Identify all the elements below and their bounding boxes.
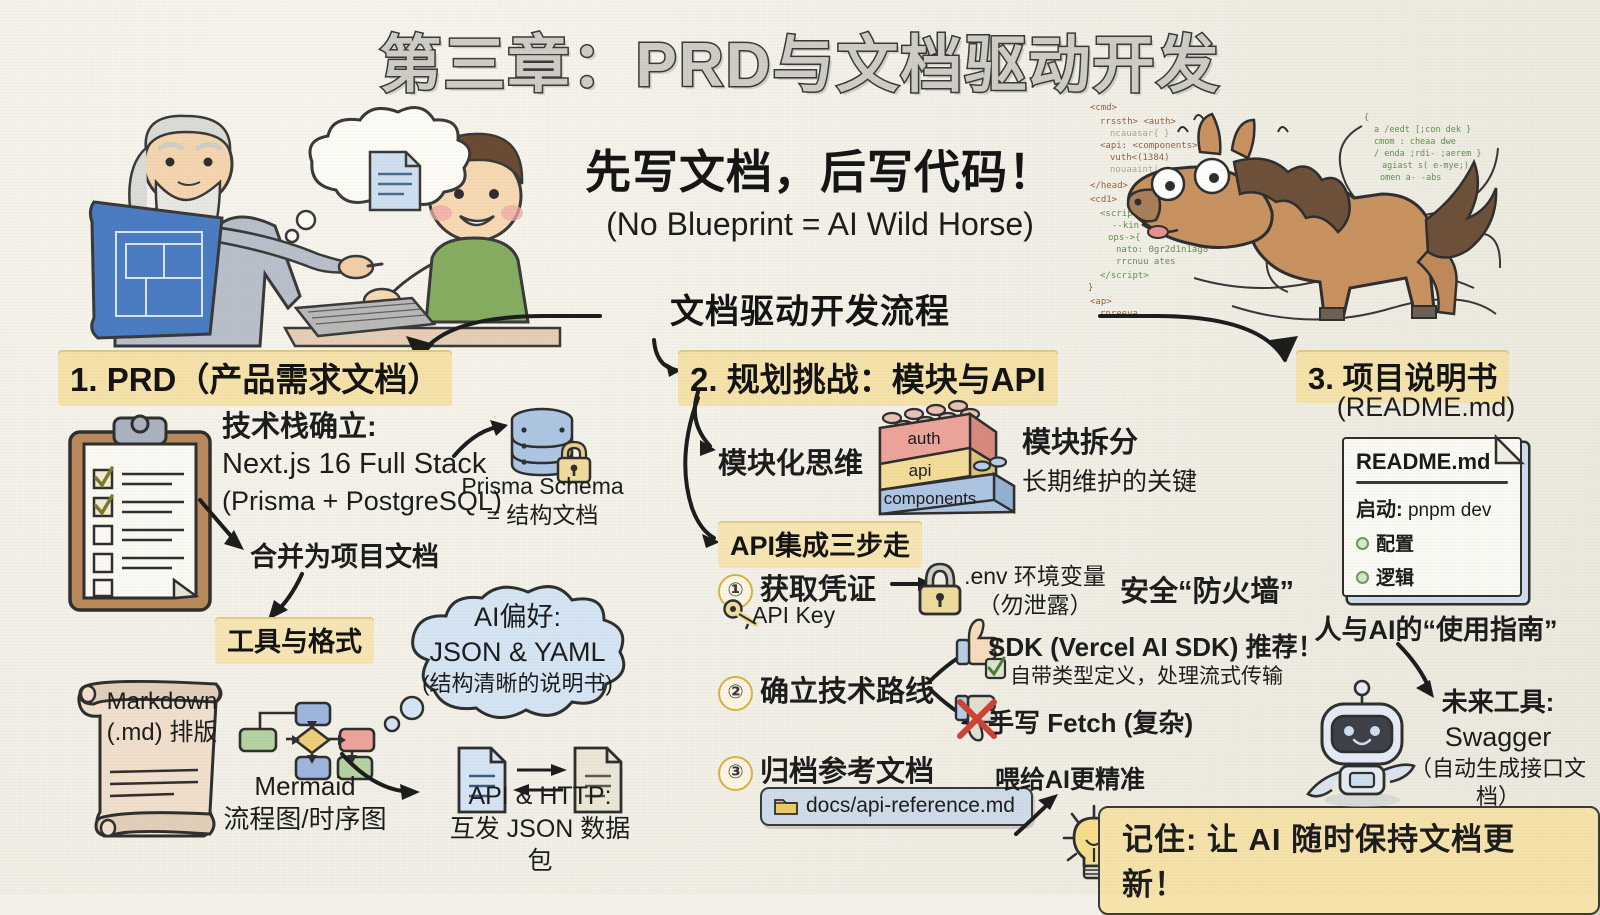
- doc-path-text: docs/api-reference.md: [806, 794, 1015, 817]
- module-split-line2: 长期维护的关键: [1022, 466, 1197, 499]
- headline: 先写文档，后写代码！ (No Blueprint = AI Wild Horse…: [560, 136, 1080, 243]
- readme-start-label: 启动:: [1356, 499, 1403, 521]
- sdk-title: SDK (Vercel AI SDK) 推荐！: [988, 627, 1324, 664]
- svg-text:rrcnuu ates: rrcnuu ates: [1116, 257, 1176, 267]
- svg-text:</script>: </script>: [1100, 271, 1149, 281]
- arrow-to-api-http: [340, 748, 436, 806]
- api-http-line1: API & HTTP:: [445, 780, 635, 813]
- svg-text:a /eedt [;con dek }: a /eedt [;con dek }: [1374, 125, 1471, 135]
- module-split-block: 模块拆分 长期维护的关键: [1022, 425, 1197, 498]
- step-3-label: 归档参考文档: [760, 756, 934, 788]
- headline-sub: (No Blueprint = AI Wild Horse): [560, 206, 1080, 243]
- future-tool-block: 未来工具: Swagger （自动生成接口文档）: [1400, 686, 1596, 812]
- module-split-line1: 模块拆分: [1022, 425, 1197, 463]
- svg-text:nato: 0gr2d1n1ag8: nato: 0gr2d1n1ag8: [1116, 245, 1208, 255]
- readme-list: 配置 逻辑: [1356, 529, 1508, 590]
- svg-text:</head>: </head>: [1090, 181, 1129, 191]
- mermaid-line2: 流程图/时序图: [215, 803, 395, 836]
- svg-text:agiast s( e-mye;): agiast s( e-mye;): [1382, 161, 1469, 171]
- svg-text:cmom : cheaa dwe: cmom : cheaa dwe: [1374, 137, 1456, 147]
- checked-box-icon: [984, 657, 1008, 681]
- api-http-caption: API & HTTP: 互发 JSON 数据包: [445, 780, 635, 878]
- svg-text:vuth<(1384): vuth<(1384): [1110, 153, 1170, 163]
- section-3-subheading: (README.md): [1296, 392, 1556, 423]
- svg-text:/ enda ;rdi- ;aerem }: / enda ;rdi- ;aerem }: [1374, 149, 1481, 159]
- svg-text:<cmd>: <cmd>: [1090, 103, 1118, 113]
- remember-banner: 记住: 让 AI 随时保持文档更新！: [1098, 806, 1600, 915]
- lego-bricks-icon: auth api components: [862, 402, 1020, 520]
- api3-heading: API集成三步走: [718, 521, 922, 568]
- doc-path-chip[interactable]: docs/api-reference.md: [760, 787, 1033, 826]
- ai-pref-line1: AI偏好:: [400, 600, 635, 635]
- svg-text:omen a- -abs: omen a- -abs: [1380, 173, 1441, 183]
- step-2-label: 确立技术路线: [760, 676, 934, 708]
- headline-main: 先写文档，后写代码！: [560, 136, 1080, 202]
- section-1-heading: 1. PRD（产品需求文档）: [58, 350, 452, 406]
- step-2-number: ②: [718, 676, 753, 711]
- markdown-line2: (.md) 排版: [92, 717, 232, 748]
- firewall-label: 安全“防火墙”: [1120, 568, 1294, 610]
- prisma-schema-caption: Prisma Schema = 结构文档: [455, 472, 630, 530]
- merge-note: 合并为项目文档: [250, 535, 439, 574]
- readme-item-1: 逻辑: [1356, 563, 1508, 590]
- svg-text:ncauasar{ }: ncauasar{ }: [1110, 129, 1170, 139]
- svg-text:<cd1>: <cd1>: [1090, 195, 1118, 205]
- api-http-line2: 互发 JSON 数据包: [445, 813, 635, 878]
- env-note: .env 环境变量 （勿泄露）: [955, 562, 1115, 620]
- sdk-detail: 自带类型定义，处理流式传输: [1010, 660, 1283, 690]
- feed-ai-note: 喂给AI更精准: [995, 760, 1145, 796]
- step-3: ③归档参考文档: [718, 748, 934, 791]
- api3-heading-wrap: API集成三步走: [718, 521, 922, 568]
- modular-thinking-label: 模块化思维: [718, 440, 863, 482]
- prisma-caption-line1: Prisma Schema: [455, 472, 630, 501]
- prisma-caption-line2: = 结构文档: [455, 501, 630, 530]
- lego-label-api: api: [909, 461, 932, 480]
- step-2: ②确立技术路线: [718, 668, 934, 711]
- svg-text:ops->{: ops->{: [1108, 233, 1141, 243]
- markdown-line1: Markdown: [92, 686, 232, 717]
- future-line3: （自动生成接口文档）: [1400, 755, 1596, 812]
- ai-pref-line3: (结构清晰的说明书): [400, 670, 635, 699]
- lego-label-auth: auth: [907, 429, 940, 448]
- page-fold-icon: [1496, 437, 1526, 467]
- api-key-label: API Key: [752, 602, 835, 629]
- folder-icon: [774, 796, 798, 815]
- svg-text:rrssth> <auth>: rrssth> <auth>: [1100, 117, 1176, 127]
- ai-preference-block: AI偏好: JSON & YAML (结构清晰的说明书): [400, 600, 635, 699]
- page-title: 第三章：PRD与文档驱动开发: [0, 14, 1600, 104]
- ai-pref-line2: JSON & YAML: [400, 635, 635, 670]
- fetch-label: 手写 Fetch (复杂): [988, 703, 1193, 740]
- readme-item-0: 配置: [1356, 529, 1508, 556]
- readme-divider: [1356, 481, 1508, 484]
- infographic-canvas: 第三章：PRD与文档驱动开发: [0, 0, 1600, 894]
- future-line1: 未来工具:: [1400, 686, 1596, 720]
- wild-horse-illustration: <cmd> rrssth> <auth> ncauasar{ } <api: <…: [1082, 92, 1502, 322]
- tools-heading: 工具与格式: [215, 617, 374, 664]
- readme-start-line: 启动: pnpm dev: [1356, 493, 1508, 522]
- env-line2: （勿泄露）: [955, 591, 1115, 620]
- readme-start-cmd: pnpm dev: [1408, 500, 1491, 521]
- lego-label-components: components: [884, 489, 977, 508]
- step-3-number: ③: [718, 756, 753, 791]
- svg-text:<api: <components>: <api: <components>: [1100, 141, 1198, 151]
- readme-filename: README.md: [1356, 449, 1508, 475]
- section-1-heading-wrap: 1. PRD（产品需求文档）: [58, 350, 452, 406]
- markdown-label: Markdown (.md) 排版: [92, 686, 232, 748]
- tools-heading-wrap: 工具与格式: [215, 617, 374, 664]
- svg-text:{: {: [1364, 113, 1369, 123]
- env-line1: .env 环境变量: [955, 562, 1115, 591]
- future-line2: Swagger: [1400, 720, 1596, 755]
